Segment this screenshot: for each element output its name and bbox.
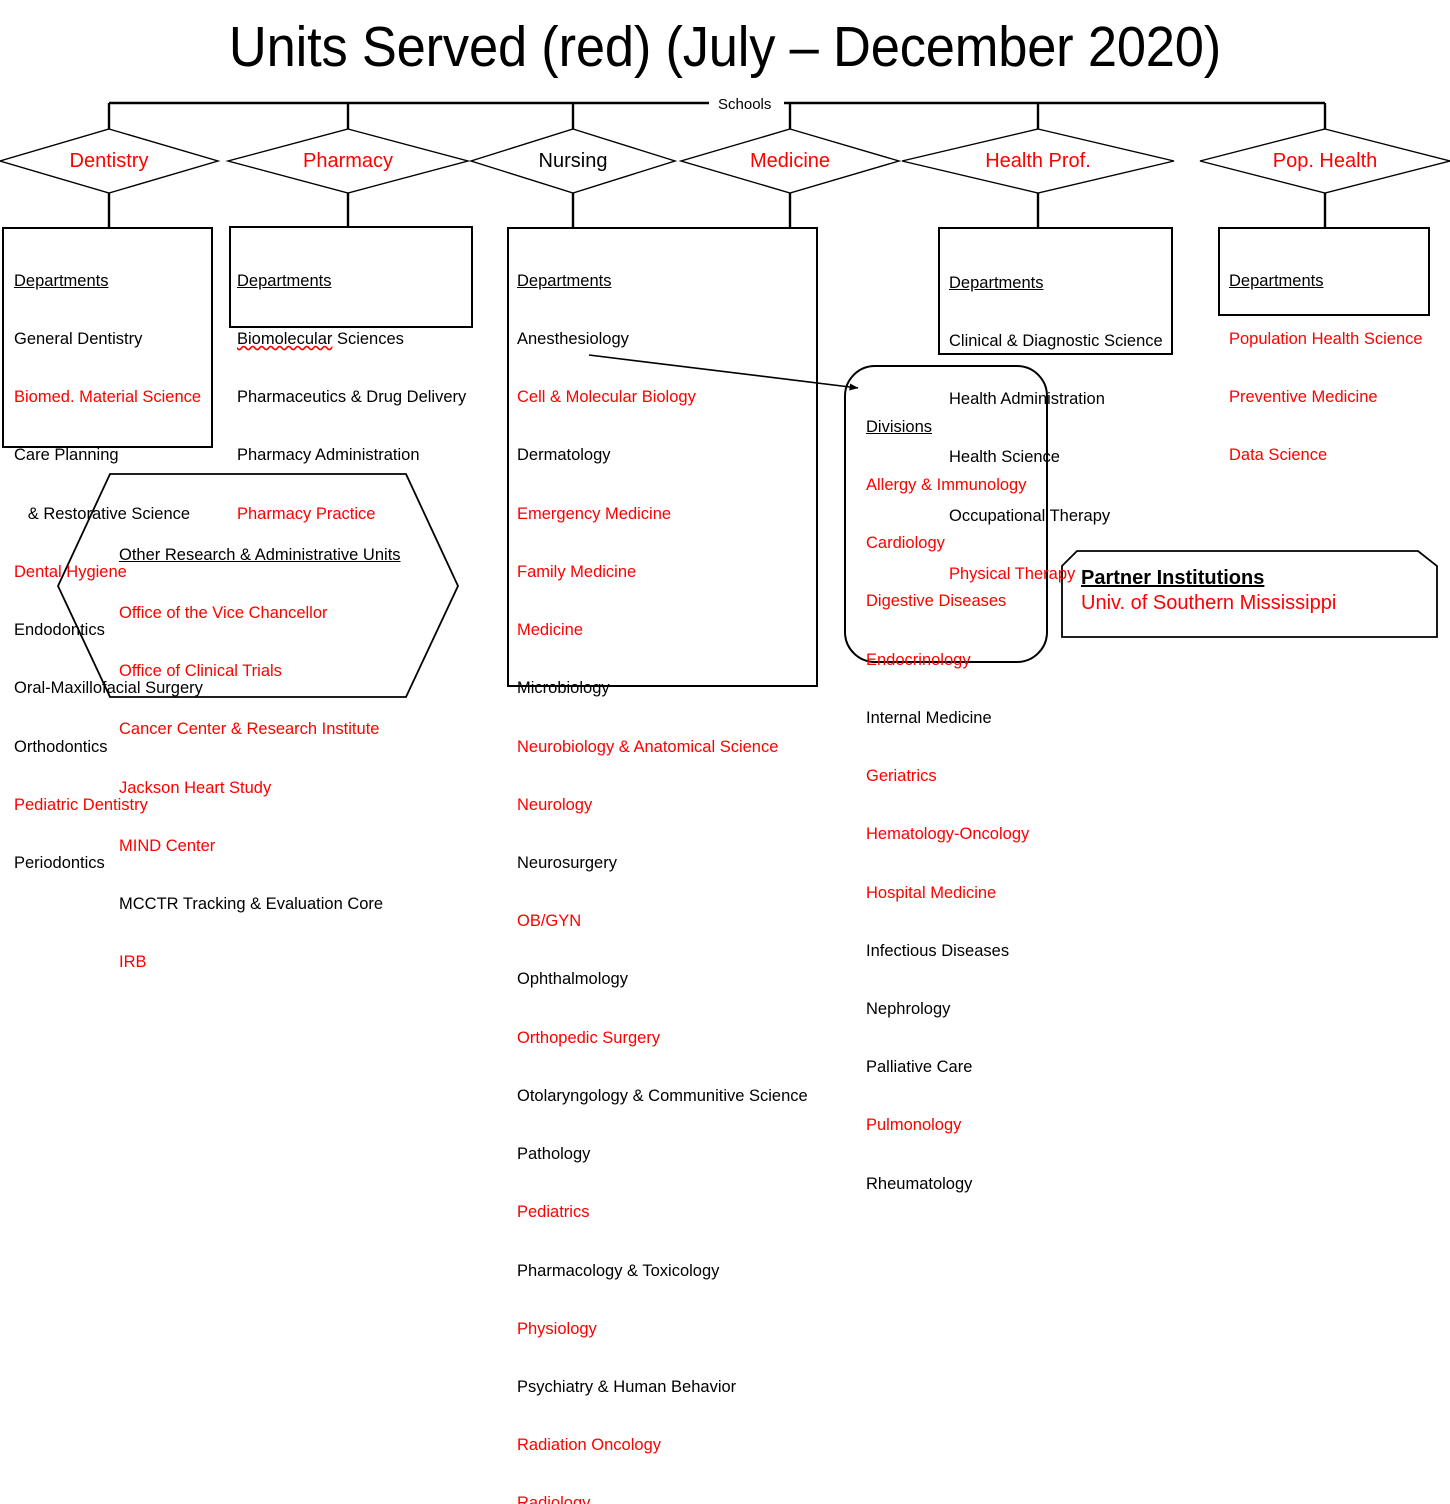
list-item: Otolaryngology & Communitive Science: [517, 1087, 808, 1106]
list-item: Physiology: [517, 1320, 808, 1339]
list-item: Office of Clinical Trials: [119, 662, 401, 681]
list-item: Preventive Medicine: [1229, 388, 1423, 407]
list-item: Care Planning: [14, 446, 203, 465]
list-item: Biomolecular Sciences: [237, 330, 466, 349]
node-pop-health[interactable]: Pop. Health: [1250, 150, 1400, 172]
list-item: Pathology: [517, 1145, 808, 1164]
list-item: Anesthesiology: [517, 330, 808, 349]
list-item: Pulmonology: [866, 1116, 1029, 1135]
list-pop-health: Departments Population Health Science Pr…: [1229, 233, 1423, 505]
list-item: Pediatrics: [517, 1203, 808, 1222]
list-item: Infectious Diseases: [866, 942, 1029, 961]
list-item: Emergency Medicine: [517, 505, 808, 524]
list-header: Other Research & Administrative Units: [119, 546, 401, 565]
list-item: Cardiology: [866, 534, 1029, 553]
list-header: Departments: [517, 272, 808, 291]
list-item: Radiation Oncology: [517, 1436, 808, 1455]
page-title: Units Served (red) (July – December 2020…: [58, 14, 1392, 80]
list-item: Ophthalmology: [517, 970, 808, 989]
list-item: Neurosurgery: [517, 854, 808, 873]
node-health-prof[interactable]: Health Prof.: [963, 150, 1113, 172]
schools-connector-tree: [109, 103, 1325, 129]
list-partner-institutions: Partner Institutions Univ. of Southern M…: [1081, 566, 1336, 616]
partner-item: Univ. of Southern Mississippi: [1081, 591, 1336, 616]
list-item: Orthopedic Surgery: [517, 1029, 808, 1048]
node-pharmacy[interactable]: Pharmacy: [273, 150, 423, 172]
list-header: Departments: [1229, 272, 1423, 291]
list-item-medicine: Medicine: [517, 621, 808, 640]
node-nursing[interactable]: Nursing: [498, 150, 648, 172]
list-item: Radiology: [517, 1494, 808, 1504]
list-item: Pharmacology & Toxicology: [517, 1262, 808, 1281]
list-item: Endocrinology: [866, 651, 1029, 670]
node-medicine[interactable]: Medicine: [715, 150, 865, 172]
list-item: Data Science: [1229, 446, 1423, 465]
list-item: Neurobiology & Anatomical Science: [517, 738, 808, 757]
list-item: Cell & Molecular Biology: [517, 388, 808, 407]
list-item: Cancer Center & Research Institute: [119, 720, 401, 739]
slide-canvas: Units Served (red) (July – December 2020…: [0, 0, 1450, 752]
list-header: Departments: [14, 272, 203, 291]
list-item: OB/GYN: [517, 912, 808, 931]
list-item: IRB: [119, 953, 401, 972]
list-item: General Dentistry: [14, 330, 203, 349]
list-item: Palliative Care: [866, 1058, 1029, 1077]
list-item: Geriatrics: [866, 767, 1029, 786]
list-item: Psychiatry & Human Behavior: [517, 1378, 808, 1397]
list-header: Divisions: [866, 418, 1029, 437]
list-item: Neurology: [517, 796, 808, 815]
partner-header: Partner Institutions: [1081, 566, 1336, 591]
list-item: MIND Center: [119, 837, 401, 856]
list-medicine-departments: Departments Anesthesiology Cell & Molecu…: [517, 233, 808, 1504]
node-dentistry[interactable]: Dentistry: [34, 150, 184, 172]
list-item: Pharmaceutics & Drug Delivery: [237, 388, 466, 407]
list-item: Allergy & Immunology: [866, 476, 1029, 495]
list-item: Biomed. Material Science: [14, 388, 203, 407]
list-item: Microbiology: [517, 679, 808, 698]
list-item: Hematology-Oncology: [866, 825, 1029, 844]
list-item: Office of the Vice Chancellor: [119, 604, 401, 623]
list-item: Dermatology: [517, 446, 808, 465]
list-header: Departments: [237, 272, 466, 291]
list-item: MCCTR Tracking & Evaluation Core: [119, 895, 401, 914]
list-item: Digestive Diseases: [866, 592, 1029, 611]
list-item: Pharmacy Administration: [237, 446, 466, 465]
list-other-research-units: Other Research & Administrative Units Of…: [119, 507, 401, 1012]
list-item: Family Medicine: [517, 563, 808, 582]
diamond-to-box-stems: [109, 193, 1325, 228]
schools-root-label: Schools: [718, 96, 771, 113]
list-item: Nephrology: [866, 1000, 1029, 1019]
list-item: Population Health Science: [1229, 330, 1423, 349]
list-item: Hospital Medicine: [866, 884, 1029, 903]
misspelled-word: Biomolecular: [237, 330, 332, 348]
list-medicine-divisions: Divisions Allergy & Immunology Cardiolog…: [866, 379, 1029, 1233]
list-item: Jackson Heart Study: [119, 779, 401, 798]
list-item: Internal Medicine: [866, 709, 1029, 728]
list-item: Rheumatology: [866, 1175, 1029, 1194]
list-item-suffix: Sciences: [332, 330, 404, 348]
list-item: Clinical & Diagnostic Science: [949, 332, 1163, 351]
list-header: Departments: [949, 274, 1163, 293]
